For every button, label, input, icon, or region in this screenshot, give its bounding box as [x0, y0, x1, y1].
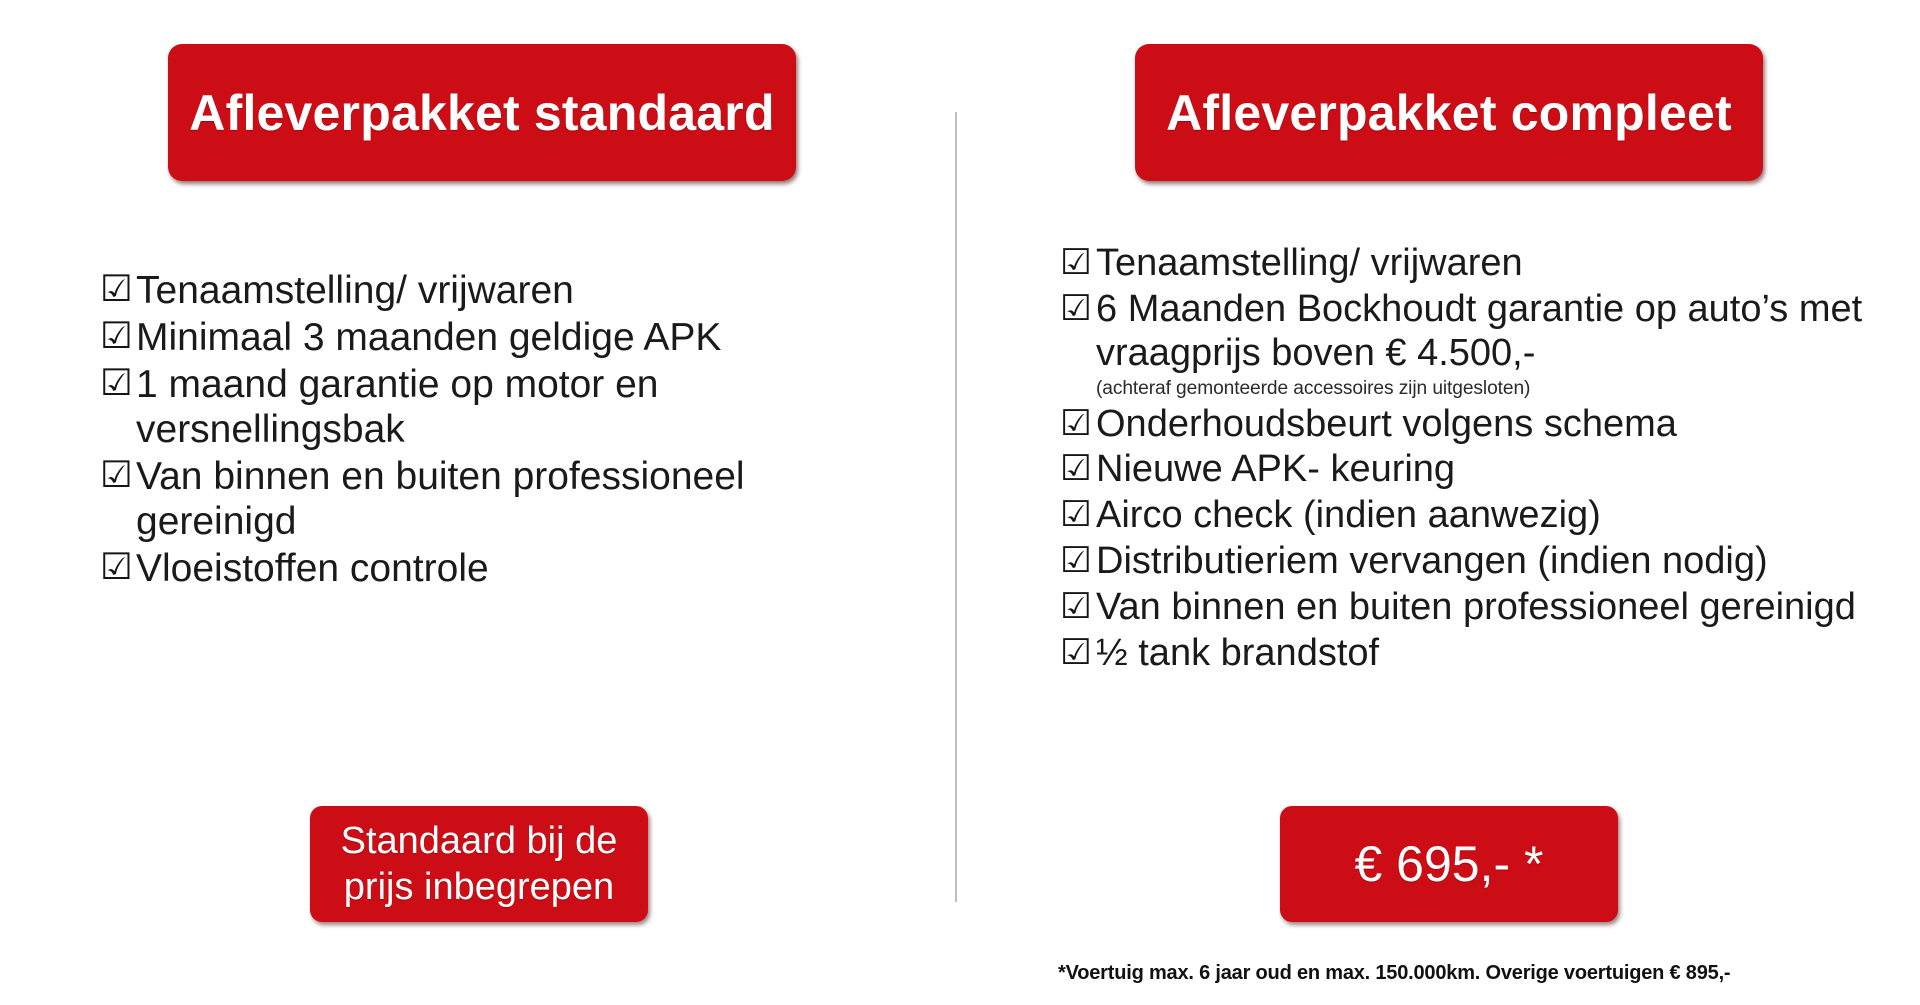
- list-item-label: Tenaamstelling/ vrijwaren: [1096, 242, 1900, 286]
- list-item-text: 6 Maanden Bockhoudt garantie op auto’s m…: [1096, 288, 1862, 374]
- list-item: ☑ 6 Maanden Bockhoudt garantie op auto’s…: [1060, 288, 1900, 401]
- list-item-label: Distributieriem vervangen (indien nodig): [1096, 540, 1900, 584]
- left-column: Afleverpakket standaard ☑ Tenaamstelling…: [0, 0, 955, 1005]
- list-item: ☑ Vloeistoffen controle: [100, 546, 900, 591]
- list-item-label: Vloeistoffen controle: [136, 546, 900, 591]
- checkbox-checked-icon: ☑: [1060, 632, 1096, 673]
- list-item: ☑ Tenaamstelling/ vrijwaren: [1060, 242, 1900, 286]
- list-item: ☑ Airco check (indien aanwezig): [1060, 494, 1900, 538]
- list-item: ☑ Distributieriem vervangen (indien nodi…: [1060, 540, 1900, 584]
- checkbox-checked-icon: ☑: [1060, 448, 1096, 489]
- list-item: ☑ 1 maand garantie op motor en versnelli…: [100, 362, 900, 452]
- list-item: ☑ Tenaamstelling/ vrijwaren: [100, 268, 900, 313]
- list-item: ☑ Nieuwe APK- keuring: [1060, 448, 1900, 492]
- list-item: ☑ Van binnen en buiten professioneel ger…: [100, 454, 900, 544]
- list-item: ☑ Van binnen en buiten professioneel ger…: [1060, 586, 1900, 630]
- checkbox-checked-icon: ☑: [1060, 288, 1096, 329]
- checkbox-checked-icon: ☑: [1060, 494, 1096, 535]
- list-item-label: Tenaamstelling/ vrijwaren: [136, 268, 900, 313]
- checkbox-checked-icon: ☑: [100, 362, 136, 404]
- right-package-header: Afleverpakket compleet: [1135, 44, 1763, 181]
- checkbox-checked-icon: ☑: [100, 315, 136, 357]
- list-item-label: 1 maand garantie op motor en versnelling…: [136, 362, 900, 452]
- left-price-note-button[interactable]: Standaard bij de prijs inbegrepen: [310, 806, 648, 922]
- checkbox-checked-icon: ☑: [1060, 242, 1096, 283]
- slide-root: Afleverpakket standaard ☑ Tenaamstelling…: [0, 0, 1920, 1005]
- list-item: ☑ ½ tank brandstof: [1060, 632, 1900, 676]
- list-item: ☑ Onderhoudsbeurt volgens schema: [1060, 403, 1900, 447]
- checkbox-checked-icon: ☑: [100, 546, 136, 588]
- list-item-label: 6 Maanden Bockhoudt garantie op auto’s m…: [1096, 288, 1900, 401]
- checkbox-checked-icon: ☑: [100, 268, 136, 310]
- list-item-label: ½ tank brandstof: [1096, 632, 1900, 676]
- list-item-label: Onderhoudsbeurt volgens schema: [1096, 403, 1900, 447]
- footnote-text: *Voertuig max. 6 jaar oud en max. 150.00…: [1058, 962, 1918, 985]
- right-price-button[interactable]: € 695,- *: [1280, 806, 1618, 922]
- left-package-header: Afleverpakket standaard: [168, 44, 796, 181]
- checkbox-checked-icon: ☑: [1060, 540, 1096, 581]
- list-item-label: Nieuwe APK- keuring: [1096, 448, 1900, 492]
- checkbox-checked-icon: ☑: [1060, 403, 1096, 444]
- list-item-note: (achteraf gemonteerde accessoires zijn u…: [1096, 377, 1900, 401]
- checkbox-checked-icon: ☑: [1060, 586, 1096, 627]
- list-item-label: Van binnen en buiten professioneel gerei…: [136, 454, 900, 544]
- right-checklist: ☑ Tenaamstelling/ vrijwaren ☑ 6 Maanden …: [1060, 242, 1900, 678]
- left-checklist: ☑ Tenaamstelling/ vrijwaren ☑ Minimaal 3…: [100, 268, 900, 593]
- list-item-label: Airco check (indien aanwezig): [1096, 494, 1900, 538]
- checkbox-checked-icon: ☑: [100, 454, 136, 496]
- list-item: ☑ Minimaal 3 maanden geldige APK: [100, 315, 900, 360]
- list-item-label: Minimaal 3 maanden geldige APK: [136, 315, 900, 360]
- list-item-label: Van binnen en buiten professioneel gerei…: [1096, 586, 1900, 630]
